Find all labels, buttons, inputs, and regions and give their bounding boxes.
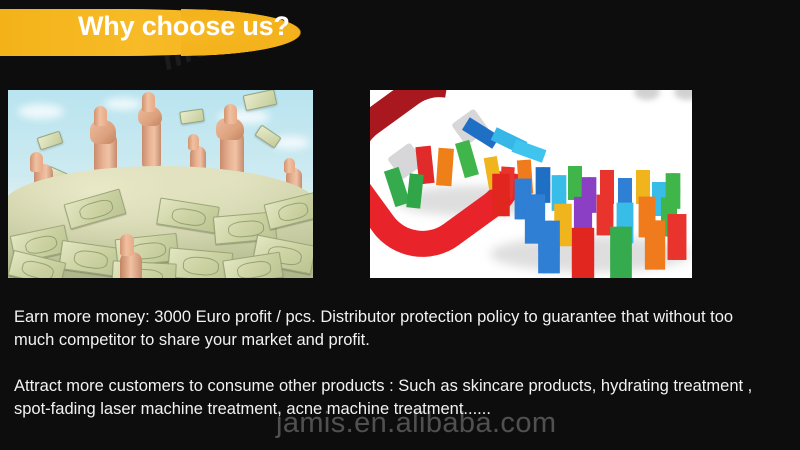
person-figure	[436, 148, 454, 186]
person-figure	[668, 214, 687, 260]
cloud-shape	[18, 104, 64, 119]
person-figure	[645, 220, 665, 269]
thumb-up-shape	[120, 234, 134, 256]
attract-customers-photo	[370, 90, 692, 278]
person-figure	[610, 227, 632, 278]
person-figure	[572, 228, 594, 278]
page-title: Why choose us?	[78, 11, 290, 42]
paragraph-attract-customers: Attract more customers to consume other …	[14, 375, 774, 421]
person-figure	[538, 221, 560, 274]
thumb-up-shape	[94, 106, 107, 126]
person-figure	[492, 174, 510, 217]
thumb-up-shape	[30, 152, 43, 172]
thumb-up-shape	[142, 92, 155, 112]
body-copy: Earn more money: 3000 Euro profit / pcs.…	[14, 306, 774, 421]
slide-root: ment Why choose us?	[0, 0, 800, 450]
thumb-up-shape	[188, 134, 199, 150]
earn-more-money-photo	[8, 90, 313, 278]
paragraph-earn-more-money: Earn more money: 3000 Euro profit / pcs.…	[14, 306, 774, 352]
thumb-up-shape	[224, 104, 237, 124]
thumb-up-shape	[284, 158, 295, 173]
cloud-shape	[104, 98, 142, 110]
person-figure	[568, 166, 582, 200]
